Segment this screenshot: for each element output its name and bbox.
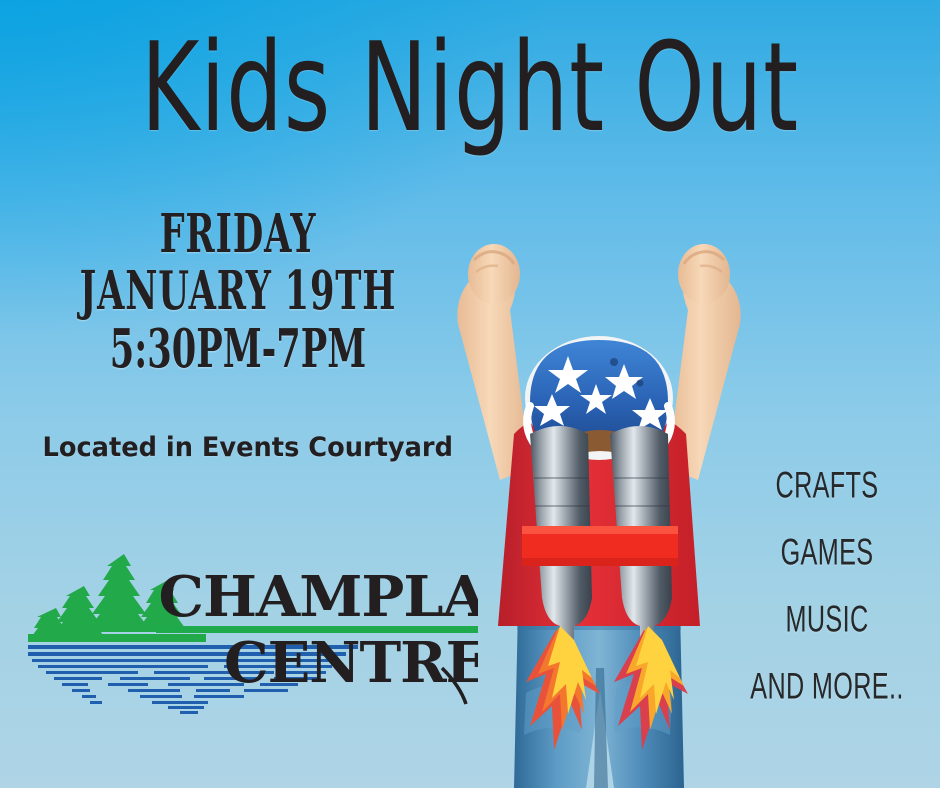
event-date: JANUARY 19TH	[70, 264, 406, 320]
event-date-block: FRIDAY JANUARY 19TH 5:30PM-7PM	[28, 212, 448, 372]
right-fist	[678, 244, 730, 304]
logo-wordmark-line1: CHAMPLAIN	[159, 565, 478, 630]
list-item: MUSIC	[749, 601, 906, 638]
logo-wordmark-line2: CENTRE	[224, 630, 478, 696]
event-time: 5:30PM-7PM	[70, 321, 406, 377]
poster-canvas: Kids Night Out FRIDAY JANUARY 19TH 5:30P…	[0, 0, 940, 788]
left-fist	[468, 244, 520, 304]
champlain-centre-logo: CHAMPLAIN CENTRE	[28, 542, 478, 714]
event-day: FRIDAY	[70, 207, 406, 263]
list-item: CRAFTS	[749, 467, 906, 504]
list-item: GAMES	[749, 534, 906, 571]
page-title: Kids Night Out	[66, 26, 874, 149]
activity-list: CRAFTS GAMES MUSIC AND MORE..	[718, 468, 936, 704]
event-location: Located in Events Courtyard	[43, 432, 442, 463]
list-item: AND MORE..	[749, 668, 906, 705]
